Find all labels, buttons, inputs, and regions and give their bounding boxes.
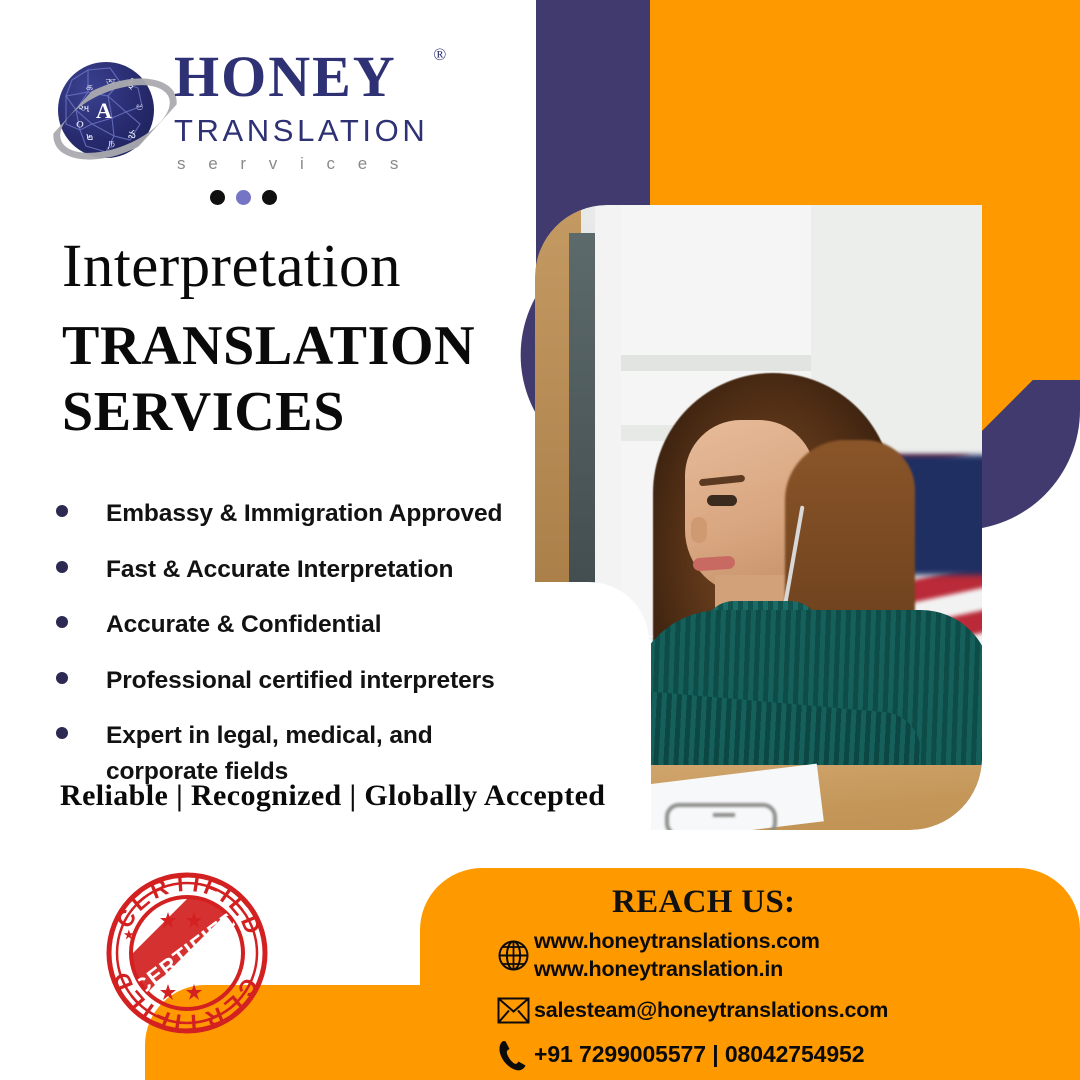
contact-heading: REACH US: [612,884,795,921]
list-item: Professional certified interpreters [56,663,526,699]
feature-label: Embassy & Immigration Approved [106,496,502,532]
divider-dot-3 [262,190,277,205]
bullet-dot-icon [56,616,68,628]
list-item: Fast & Accurate Interpretation [56,552,526,588]
website-line-2[interactable]: www.honeytranslation.in [534,956,820,984]
list-item: Accurate & Confidential [56,607,526,643]
feature-list: Embassy & Immigration Approved Fast & Ac… [56,496,526,809]
logo-tertiary-name: s e r v i c e s [177,155,428,172]
headline-script-line: Interpretation [62,236,475,297]
website-line-1[interactable]: www.honeytranslations.com [534,928,820,956]
poster-canvas: க অ ई અ ಅ ๒ ந న A ૦ HONEY® [0,0,1080,1080]
logo-dot-divider [210,190,277,205]
bullet-dot-icon [56,727,68,739]
feature-label: Professional certified interpreters [106,663,495,699]
headline-bold-line-1: TRANSLATION [62,313,475,379]
registered-mark-icon: ® [433,46,448,63]
phone-numbers[interactable]: +91 7299005577 | 08042754952 [534,1040,864,1069]
photo-notch-curve-top [589,636,653,700]
globe-icon [492,939,534,972]
bullet-dot-icon [56,505,68,517]
bullet-dot-icon [56,672,68,684]
contact-row-email[interactable]: salesteam@honeytranslations.com [492,997,888,1025]
headline-bold-line-2: SERVICES [62,379,475,445]
headline-block: Interpretation TRANSLATION SERVICES [62,236,475,445]
email-address[interactable]: salesteam@honeytranslations.com [534,997,888,1025]
phone-icon [492,1039,534,1071]
divider-dot-2 [236,190,251,205]
globe-multilingual-icon: க অ ई અ ಅ ๒ ந న A ૦ [52,56,160,164]
brand-logo: க অ ई અ ಅ ๒ ந న A ૦ HONEY® [52,48,428,172]
tagline: Reliable | Recognized | Globally Accepte… [60,779,605,813]
certified-stamp-icon: CERTIFIED CERTIFIED CERTIFIED [106,872,269,1035]
logo-primary-text: HONEY [174,44,397,109]
envelope-icon [492,997,534,1024]
contact-panel-joint-curve [420,925,490,995]
logo-secondary-name: TRANSLATION [174,115,428,146]
feature-label: Fast & Accurate Interpretation [106,552,453,588]
logo-primary-name: HONEY® [174,48,428,106]
feature-label: Accurate & Confidential [106,607,381,643]
list-item: Embassy & Immigration Approved [56,496,526,532]
divider-dot-1 [210,190,225,205]
contact-row-website[interactable]: www.honeytranslations.com www.honeytrans… [492,928,888,983]
contact-row-phone[interactable]: +91 7299005577 | 08042754952 [492,1039,888,1071]
contact-list: www.honeytranslations.com www.honeytrans… [492,928,888,1080]
bullet-dot-icon [56,561,68,573]
